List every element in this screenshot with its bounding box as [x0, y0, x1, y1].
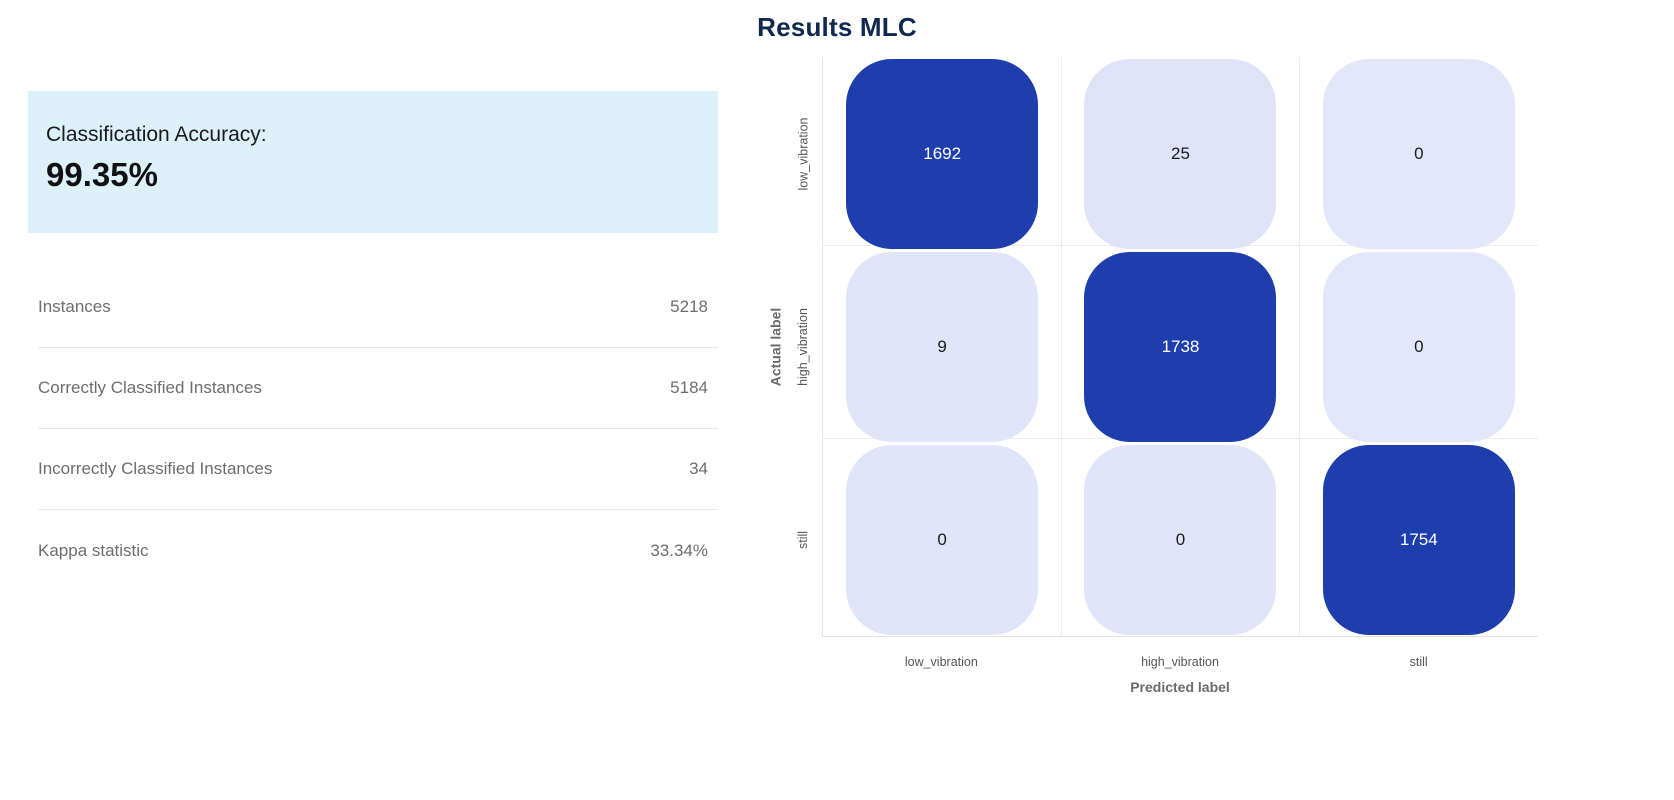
page-title: Results MLC — [0, 0, 1674, 43]
cell-value: 0 — [1323, 252, 1515, 442]
y-tick-low-vibration: low_vibration — [788, 57, 818, 250]
stat-row-instances: Instances 5218 — [38, 267, 718, 348]
stat-label: Correctly Classified Instances — [38, 378, 262, 398]
cell-value: 0 — [846, 445, 1038, 635]
y-tick-label: still — [796, 531, 810, 549]
cell-value: 25 — [1084, 59, 1276, 249]
stat-label: Instances — [38, 297, 111, 317]
cell-value: 0 — [1323, 59, 1515, 249]
matrix-cell[interactable]: 0 — [823, 443, 1061, 636]
y-axis-title-label: Actual label — [767, 308, 783, 387]
stat-value: 34 — [689, 459, 708, 479]
cell-value: 0 — [1084, 445, 1276, 635]
y-tick-high-vibration: high_vibration — [788, 250, 818, 443]
accuracy-value: 99.35% — [46, 158, 718, 193]
x-tick-low-vibration: low_vibration — [822, 639, 1061, 669]
matrix-cells: 1692 25 0 9 1738 0 — [823, 57, 1538, 636]
x-tick-still: still — [1299, 639, 1538, 669]
stat-value: 5218 — [670, 297, 708, 317]
x-axis-tick-labels: low_vibration high_vibration still — [822, 639, 1538, 669]
cell-value: 9 — [846, 252, 1038, 442]
statistics-list: Instances 5218 Correctly Classified Inst… — [28, 267, 718, 591]
confusion-matrix-chart: Actual label low_vibration high_vibratio… — [760, 57, 1580, 757]
classification-accuracy-card: Classification Accuracy: 99.35% — [28, 91, 718, 233]
y-axis-tick-labels: low_vibration high_vibration still — [788, 57, 818, 637]
x-tick-high-vibration: high_vibration — [1061, 639, 1300, 669]
stat-row-correctly-classified: Correctly Classified Instances 5184 — [38, 348, 718, 429]
y-tick-still: still — [788, 444, 818, 637]
main-layout: Classification Accuracy: 99.35% Instance… — [0, 43, 1674, 783]
stat-value: 33.34% — [650, 541, 708, 561]
stat-value: 5184 — [670, 378, 708, 398]
plot-area: 1692 25 0 9 1738 0 — [822, 57, 1538, 637]
cell-value: 1738 — [1084, 252, 1276, 442]
summary-panel: Classification Accuracy: 99.35% Instance… — [0, 43, 760, 591]
cell-value: 1754 — [1323, 445, 1515, 635]
stat-row-kappa-statistic: Kappa statistic 33.34% — [38, 510, 718, 591]
matrix-cell[interactable]: 1692 — [823, 57, 1061, 250]
accuracy-label: Classification Accuracy: — [46, 123, 718, 146]
matrix-cell[interactable]: 1754 — [1300, 443, 1538, 636]
matrix-cell[interactable]: 0 — [1300, 250, 1538, 443]
matrix-cell[interactable]: 0 — [1061, 443, 1299, 636]
y-tick-label: high_vibration — [796, 308, 810, 386]
y-tick-label: low_vibration — [796, 117, 810, 190]
confusion-matrix-panel: Actual label low_vibration high_vibratio… — [760, 43, 1640, 783]
matrix-cell[interactable]: 25 — [1061, 57, 1299, 250]
y-axis-title: Actual label — [762, 57, 788, 637]
matrix-cell[interactable]: 0 — [1300, 57, 1538, 250]
matrix-cell[interactable]: 9 — [823, 250, 1061, 443]
matrix-cell[interactable]: 1738 — [1061, 250, 1299, 443]
cell-value: 1692 — [846, 59, 1038, 249]
stat-row-incorrectly-classified: Incorrectly Classified Instances 34 — [38, 429, 718, 510]
stat-label: Incorrectly Classified Instances — [38, 459, 272, 479]
x-axis-title: Predicted label — [822, 679, 1538, 695]
stat-label: Kappa statistic — [38, 541, 149, 561]
